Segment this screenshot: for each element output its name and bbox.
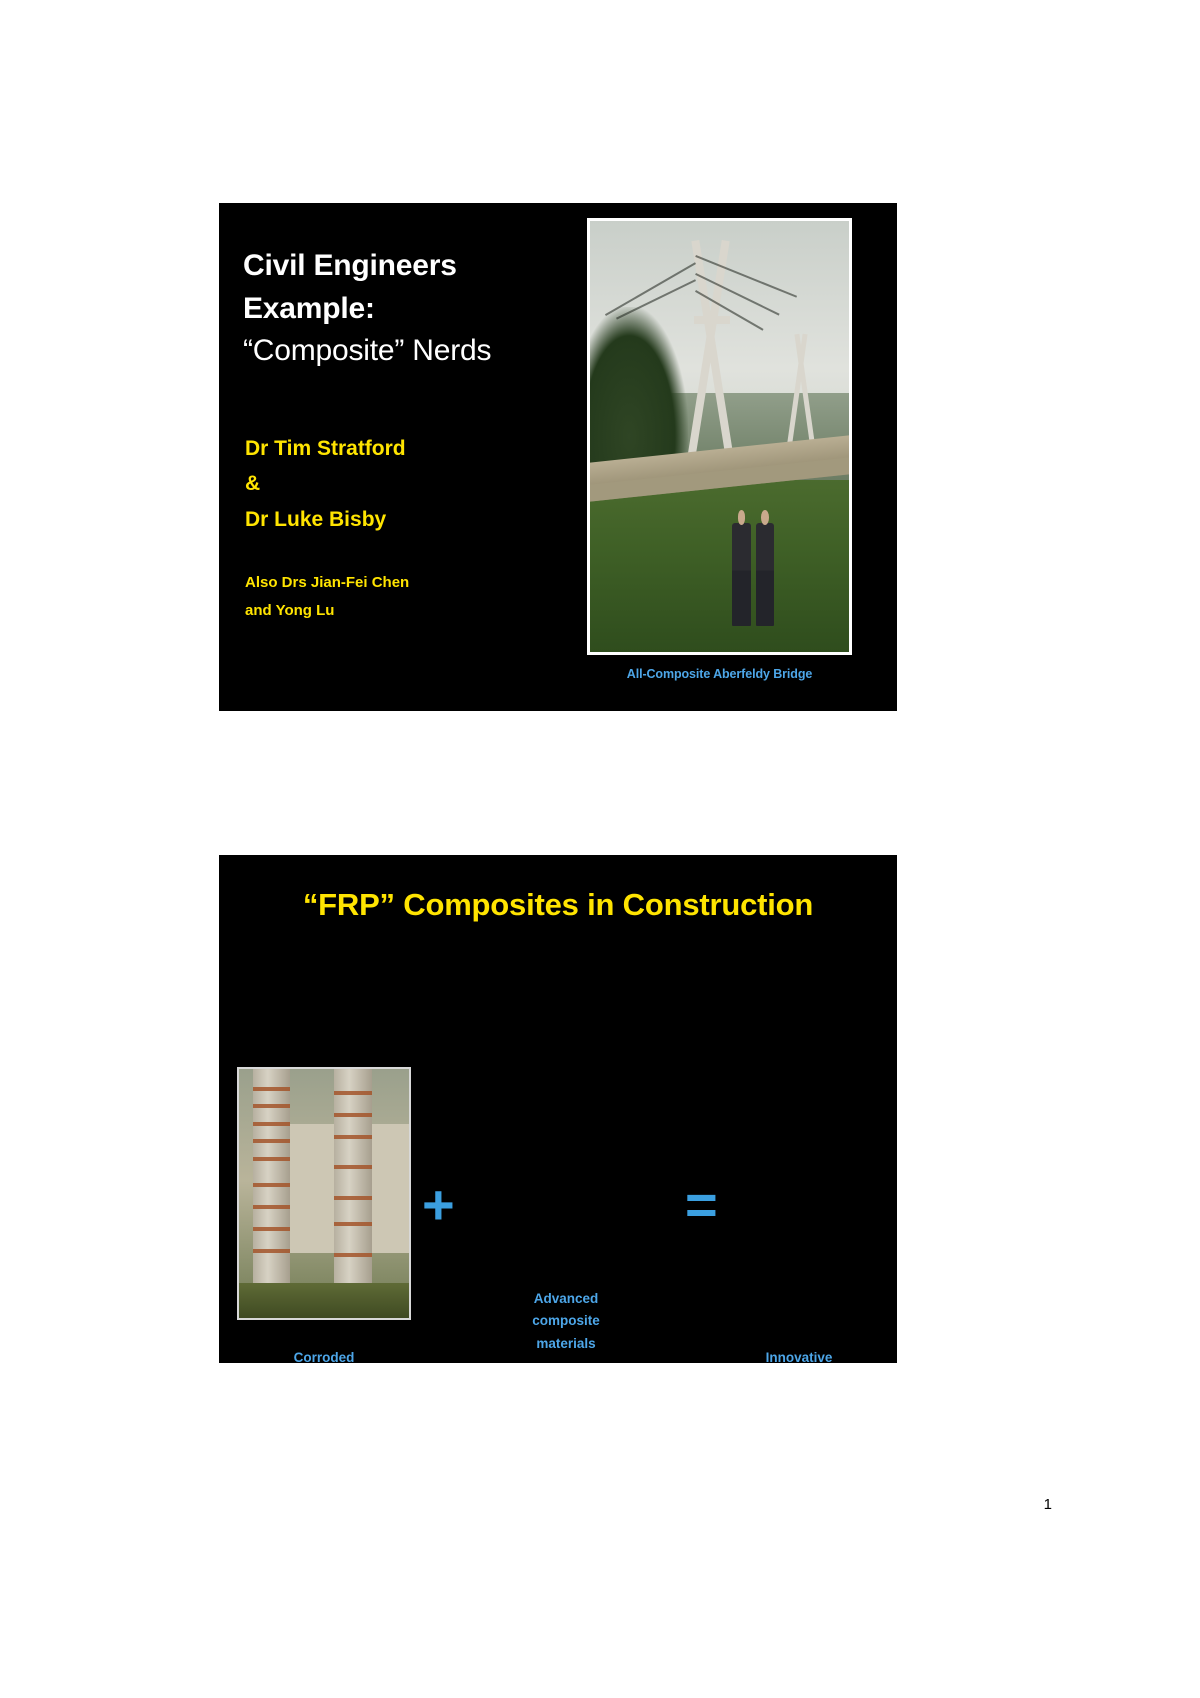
caption-line: Advanced [469, 1288, 663, 1310]
photo-caption: All-Composite Aberfeldy Bridge [587, 667, 852, 681]
equation-row: Corroded concrete columns + Advanced com… [219, 955, 897, 1255]
caption-advanced-composites: Advanced composite materials [469, 1288, 663, 1355]
author-list: Dr Tim Stratford & Dr Luke Bisby [245, 431, 575, 537]
plus-icon: + [422, 1177, 455, 1233]
equals-icon: = [685, 1177, 718, 1233]
aberfeldy-bridge-photo [587, 218, 852, 655]
additional-authors: Also Drs Jian-Fei Chen and Yong Lu [245, 569, 575, 625]
caption-line: Corroded [227, 1347, 421, 1363]
additional-authors-line-1: Also Drs Jian-Fei Chen [245, 569, 575, 597]
corroded-concrete-columns-photo [237, 1067, 411, 1320]
handout-page: Civil Engineers Example: “Composite” Ner… [0, 0, 1200, 1698]
page-number: 1 [1044, 1496, 1052, 1513]
title-line-2: Example: [243, 288, 593, 331]
slide-title: Civil Engineers Example: “Composite” Ner… [219, 203, 897, 711]
title-line-1: Civil Engineers [243, 245, 593, 288]
title-line-3: “Composite” Nerds [243, 330, 593, 373]
caption-line: composite [469, 1310, 663, 1332]
caption-line: materials [469, 1333, 663, 1355]
additional-authors-line-2: and Yong Lu [245, 597, 575, 625]
bridge-photo-art [590, 221, 849, 652]
author-separator: & [245, 466, 575, 501]
slide2-title: “FRP” Composites in Construction [219, 887, 897, 923]
slide-title-heading: Civil Engineers Example: “Composite” Ner… [243, 245, 593, 373]
author-name-1: Dr Tim Stratford [245, 431, 575, 466]
author-name-2: Dr Luke Bisby [245, 502, 575, 537]
caption-corroded-columns: Corroded concrete columns [227, 1347, 421, 1363]
caption-line: Innovative [697, 1347, 897, 1363]
slide-frp-composites: “FRP” Composites in Construction [219, 855, 897, 1363]
caption-innovative-repairs: Innovative infrastructure repairs [697, 1347, 897, 1363]
corroded-columns-art [239, 1069, 409, 1318]
